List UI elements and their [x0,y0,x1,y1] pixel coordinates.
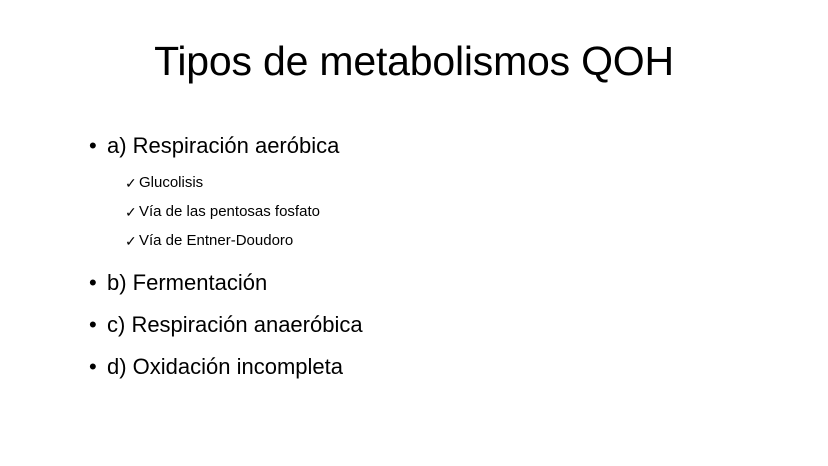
list-item-level1-c[interactable]: • c) Respiración anaeróbica [88,310,768,339]
list-item-level2-glucolisis-label: Glucolisis [139,174,203,191]
check-mark-icon: ✓ [125,202,137,222]
spacer [88,257,768,268]
list-item-level1-d-label: d) Oxidación incompleta [107,354,343,379]
list-item-level2-pentosas-label: Vía de las pentosas fosfato [139,203,320,220]
list-item-level1-a-label: a) Respiración aeróbica [107,133,339,158]
list-item-level1-b[interactable]: • b) Fermentación [88,268,768,297]
list-item-level2-pentosas[interactable]: ✓ Vía de las pentosas fosfato [88,202,768,222]
bullet-dot-icon: • [89,352,97,381]
list-item-level1-a[interactable]: • a) Respiración aeróbica [88,131,768,160]
list-item-level1-b-label: b) Fermentación [107,270,267,295]
list-item-level2-entner-label: Vía de Entner-Doudoro [139,232,293,249]
list-item-level2-entner[interactable]: ✓ Vía de Entner-Doudoro [88,231,768,251]
sublist-a: ✓ Glucolisis ✓ Vía de las pentosas fosfa… [88,173,768,251]
bullet-group-d: • d) Oxidación incompleta [88,352,768,381]
slide-title: Tipos de metabolismos QOH [0,38,828,84]
bullet-group-b: • b) Fermentación [88,268,768,297]
bullet-group-a: • a) Respiración aeróbica ✓ Glucolisis ✓… [88,131,768,268]
slide-content-list: • a) Respiración aeróbica ✓ Glucolisis ✓… [88,131,768,394]
bullet-dot-icon: • [89,131,97,160]
list-item-level1-c-label: c) Respiración anaeróbica [107,312,363,337]
bullet-dot-icon: • [89,310,97,339]
check-mark-icon: ✓ [125,231,137,251]
bullet-group-c: • c) Respiración anaeróbica [88,310,768,339]
list-item-level2-glucolisis[interactable]: ✓ Glucolisis [88,173,768,193]
check-mark-icon: ✓ [125,173,137,193]
bullet-dot-icon: • [89,268,97,297]
presentation-slide: Tipos de metabolismos QOH • a) Respiraci… [0,0,828,466]
list-item-level1-d[interactable]: • d) Oxidación incompleta [88,352,768,381]
